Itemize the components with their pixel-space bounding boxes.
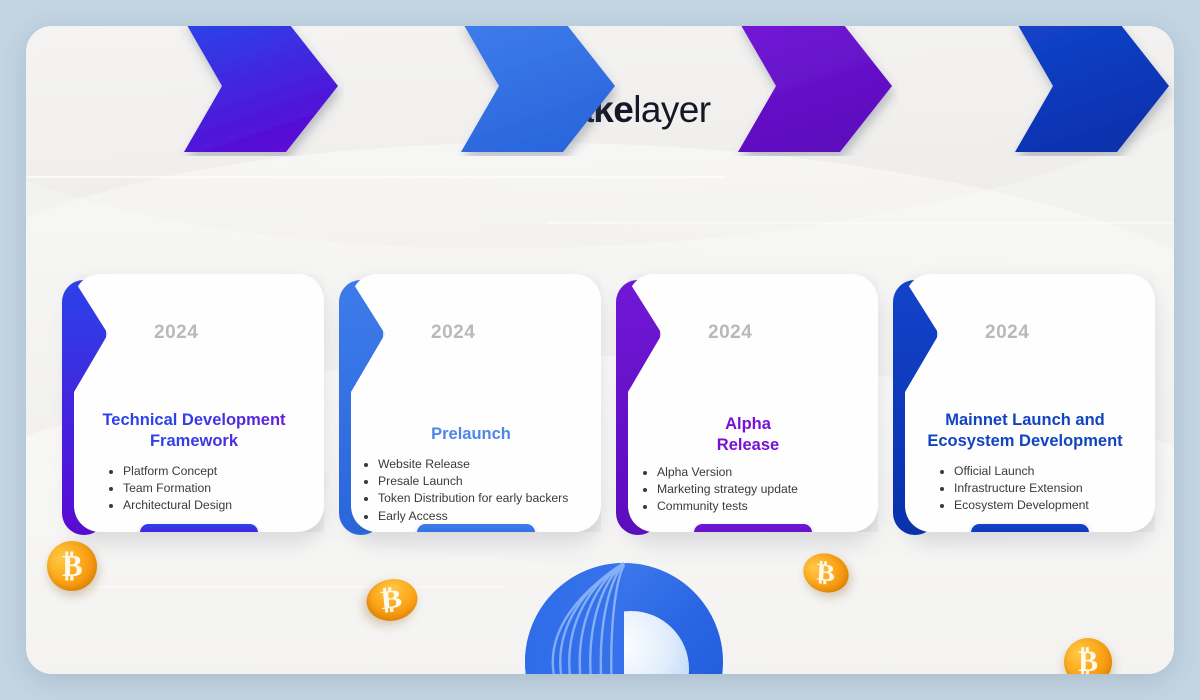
card-quarter-label: Q2: [511, 304, 586, 358]
quarter-chevron-q2: [455, 26, 621, 161]
quarter-chevron-q3: [732, 26, 898, 161]
card-year-label: 2024: [708, 322, 752, 344]
quarter-chevron-q4: [1009, 26, 1174, 161]
card-bullet-item: Alpha Version: [657, 464, 798, 480]
card-bullet-item: Infrastructure Extension: [954, 480, 1089, 496]
card-quarter-label: Q4: [1065, 304, 1140, 358]
card-bullet-item: Architectural Design: [123, 497, 232, 513]
roadmap-timeline: Technical Development FrameworkPlatform …: [26, 26, 1174, 674]
card-bullet-item: Website Release: [378, 456, 568, 472]
card-year-label: 2024: [985, 322, 1029, 344]
card-bullet-list: Official LaunchInfrastructure ExtensionE…: [937, 463, 1089, 515]
card-bullet-item: Early Access: [378, 508, 568, 524]
card-title: Technical Development Framework: [72, 410, 316, 452]
infographic-panel: stakelayer ₿₿: [26, 26, 1174, 674]
card-year-label: 2024: [154, 322, 198, 344]
card-quarter-label: Q3: [788, 304, 863, 358]
card-bullet-list: Alpha VersionMarketing strategy updateCo…: [640, 464, 798, 516]
card-bullet-item: Ecosystem Development: [954, 497, 1089, 513]
card-title: Alpha Release: [626, 414, 870, 456]
card-bullet-item: Team Formation: [123, 480, 232, 496]
card-title: Prelaunch: [349, 424, 593, 445]
card-bullet-item: Community tests: [657, 498, 798, 514]
card-bullet-list: Website ReleasePresale LaunchToken Distr…: [361, 456, 568, 525]
card-bullet-item: Platform Concept: [123, 463, 232, 479]
card-title: Mainnet Launch and Ecosystem Development: [903, 410, 1147, 452]
quarter-chevron-q1: [178, 26, 344, 161]
card-bullet-item: Marketing strategy update: [657, 481, 798, 497]
card-bullet-item: Official Launch: [954, 463, 1089, 479]
card-year-label: 2024: [431, 322, 475, 344]
card-quarter-label: Q1: [234, 304, 309, 358]
card-bullet-item: Token Distribution for early backers: [378, 490, 568, 506]
card-bullet-item: Presale Launch: [378, 473, 568, 489]
card-bullet-list: Platform ConceptTeam FormationArchitectu…: [106, 463, 232, 515]
